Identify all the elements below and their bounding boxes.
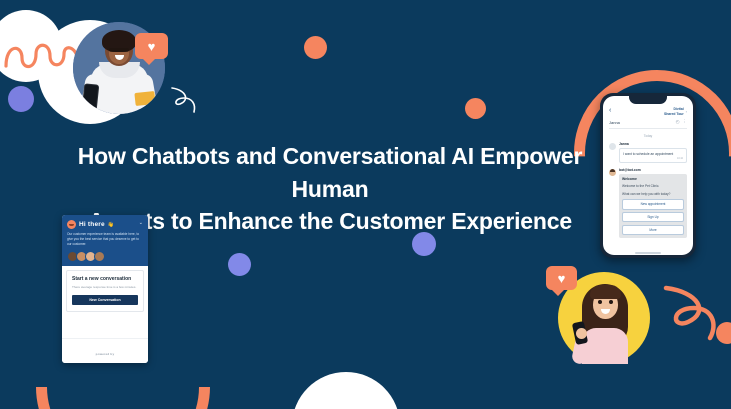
chevron-down-icon[interactable]: ⌄ <box>139 220 143 226</box>
lady-fringe <box>590 285 621 299</box>
message-sender-name: bot@bot.com <box>619 168 687 172</box>
lady-figure <box>572 276 636 364</box>
chat-widget-greeting-row: Hi there 👋 <box>67 220 143 229</box>
chat-widget-body: Start a new conversation There average r… <box>62 266 148 363</box>
message-timestamp: 10:42 <box>623 157 683 160</box>
powered-by-label: powered by <box>96 352 115 356</box>
lady-eye-right <box>609 300 613 304</box>
orange-dot-decoration <box>465 98 486 119</box>
chat-widget-greeting: Hi there <box>79 221 105 228</box>
poster-canvas: ♥ ♥ How Chatbots and Conversational AI E… <box>0 0 731 409</box>
small-curl-decoration <box>168 84 200 116</box>
smiley-avatar-icon <box>67 220 76 229</box>
phone-header-title: Divital Shared Tour <box>664 107 684 116</box>
bot-avatar <box>609 169 616 176</box>
new-conversation-button[interactable]: New Conversation <box>72 295 138 305</box>
phone-home-indicator <box>603 252 693 255</box>
held-phone <box>82 83 100 110</box>
new-conversation-title: Start a new conversation <box>72 276 138 282</box>
new-conversation-subtitle: There average response time is a few min… <box>72 285 138 290</box>
purple-dot-decoration <box>8 86 34 112</box>
lady-eye-left <box>598 300 602 304</box>
chat-widget[interactable]: Hi there 👋 ⌄ Our customer experience tea… <box>62 215 148 363</box>
avatar <box>609 143 616 150</box>
heart-bubble-lady: ♥ <box>546 266 577 290</box>
day-divider-label: Today <box>603 134 693 138</box>
bot-card-line: What can we help you with today? <box>622 192 684 196</box>
held-credit-card <box>134 91 155 106</box>
chevron-right-icon[interactable]: › <box>686 109 687 114</box>
bot-card-title: Welcome <box>622 177 684 181</box>
spring-squiggle-decoration <box>4 36 82 74</box>
message-bubble: I want to schedule an appointment 10:42 <box>619 148 687 163</box>
phone-message-list: Janna I want to schedule an appointment … <box>603 142 693 252</box>
search-input[interactable]: Janna <box>609 120 673 125</box>
chat-widget-footer: powered by <box>62 338 148 363</box>
glasses-icon <box>109 48 129 52</box>
chat-widget-intro: Our customer experience team is availabl… <box>67 232 143 247</box>
message-text: I want to schedule an appointment <box>623 152 673 156</box>
phone-header-title-row: Divital Shared Tour › <box>664 107 687 116</box>
page-title-line-1: How Chatbots and Conversational AI Empow… <box>50 140 610 205</box>
new-conversation-card: Start a new conversation There average r… <box>66 270 144 312</box>
purple-dot-decoration <box>228 253 251 276</box>
phone-notch <box>629 96 667 104</box>
lady-person-photo: ♥ <box>558 272 650 364</box>
agent-avatar-group <box>67 251 143 262</box>
phone-header-title-line-2: Shared Tour <box>664 112 684 117</box>
orange-dot-decoration <box>304 36 327 59</box>
wave-hand-icon: 👋 <box>108 222 114 228</box>
quick-reply-more[interactable]: More <box>622 225 684 235</box>
message-row-incoming: Janna I want to schedule an appointment … <box>609 142 687 163</box>
message-sender-name: Janna <box>619 142 687 146</box>
heart-icon: ♥ <box>148 40 156 53</box>
bot-reply-card: Welcome Welcome to the Pet Clinic. What … <box>619 174 687 238</box>
phone-screen: ‹ Divital Shared Tour › Janna ◴ ⋮ Today <box>603 96 693 255</box>
message-row-bot: bot@bot.com Welcome Welcome to the Pet C… <box>609 168 687 238</box>
chat-widget-header: Hi there 👋 ⌄ Our customer experience tea… <box>62 215 148 266</box>
quick-reply-new-appointment[interactable]: New appointment <box>622 199 684 209</box>
lady-hand <box>576 328 587 339</box>
agent-avatar <box>94 251 105 262</box>
phone-mockup: ‹ Divital Shared Tour › Janna ◴ ⋮ Today <box>600 93 696 258</box>
large-curl-decoration <box>660 282 722 344</box>
bot-card-line: Welcome to the Pet Clinic. <box>622 184 684 188</box>
heart-icon: ♥ <box>558 272 566 285</box>
history-clock-icon[interactable]: ◴ <box>676 119 680 125</box>
white-blob-decoration <box>292 372 400 409</box>
overflow-menu-icon[interactable]: ⋮ <box>683 119 688 125</box>
phone-search-bar[interactable]: Janna ◴ ⋮ <box>609 119 687 129</box>
heart-bubble-hero: ♥ <box>135 33 168 59</box>
quick-reply-sign-up[interactable]: Sign Up <box>622 212 684 222</box>
back-arrow-icon[interactable]: ‹ <box>609 107 611 114</box>
